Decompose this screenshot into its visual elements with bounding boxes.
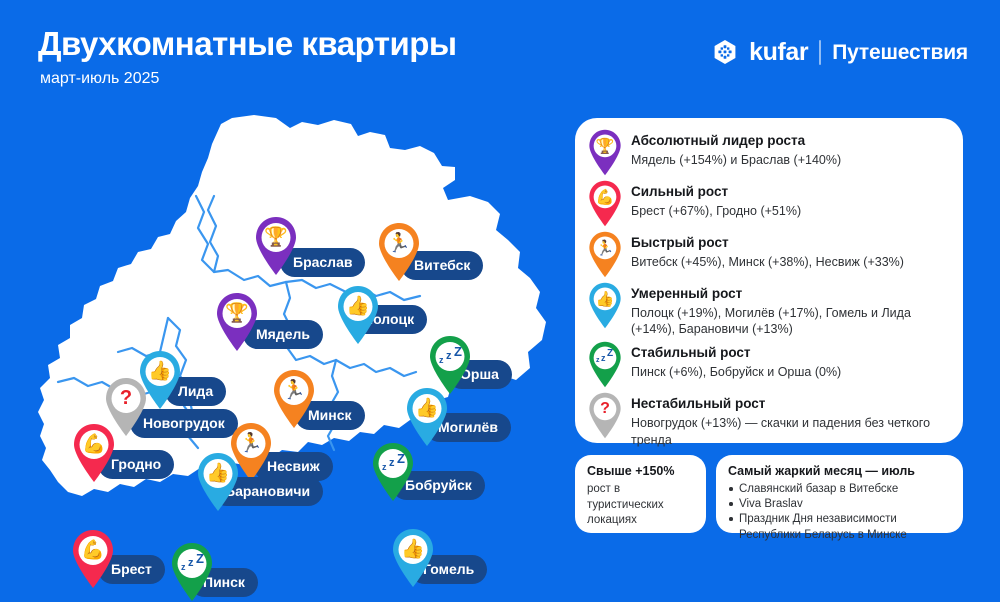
list-item: Viva Braslav xyxy=(728,497,952,512)
hottest-card-title: Самый жаркий месяц — июль xyxy=(728,464,952,479)
legend-desc: Полоцк (+19%), Могилёв (+17%), Гомель и … xyxy=(631,305,953,338)
legend-title: Стабильный рост xyxy=(631,345,841,362)
growth-highlight-card: Свыше +150% рост в туристических локация… xyxy=(575,455,706,533)
runner-icon: 🏃 xyxy=(587,235,623,261)
legend-desc: Пинск (+6%), Бобруйск и Орша (0%) xyxy=(631,364,841,380)
thumbsup-icon: 👍 xyxy=(404,392,450,425)
map-pin-мядель[interactable]: 🏆 xyxy=(214,292,260,352)
trophy-icon: 🏆 xyxy=(253,221,299,254)
legend-text: Абсолютный лидер ростаМядель (+154%) и Б… xyxy=(631,128,841,168)
growth-card-title: Свыше +150% xyxy=(587,464,695,479)
map-pin-минск[interactable]: 🏃 xyxy=(271,369,317,429)
brand-section-name: Путешествия xyxy=(832,42,968,63)
sleep-icon: zzZ xyxy=(427,340,473,373)
trophy-icon: 🏆 xyxy=(587,133,623,159)
legend-desc: Витебск (+45%), Минск (+38%), Несвиж (+3… xyxy=(631,254,904,270)
runner-icon: 🏃 xyxy=(376,227,422,260)
list-item: Славянский базар в Витебске xyxy=(728,482,952,497)
trophy-icon: 🏆 xyxy=(214,297,260,330)
brand-name: kufar xyxy=(749,40,808,65)
sleep-icon: zzZ xyxy=(587,345,623,371)
legend-text: Нестабильный ростНовогрудок (+13%) — ска… xyxy=(631,391,953,447)
legend-pin-gray: ? xyxy=(587,392,623,439)
page-subtitle: март-июль 2025 xyxy=(40,70,159,88)
legend-text: Быстрый ростВитебск (+45%), Минск (+38%)… xyxy=(631,230,904,270)
kufar-logo-icon xyxy=(712,39,738,65)
legend-item: 💪Сильный ростБрест (+67%), Гродно (+51%) xyxy=(587,179,953,227)
legend-panel: 🏆Абсолютный лидер ростаМядель (+154%) и … xyxy=(575,118,963,443)
legend-pin-orange: 🏃 xyxy=(587,231,623,278)
muscle-icon: 💪 xyxy=(71,428,117,461)
hottest-month-card: Самый жаркий месяц — июль Славянский баз… xyxy=(716,455,963,533)
legend-pin-green: zzZ xyxy=(587,341,623,388)
legend-desc: Мядель (+154%) и Браслав (+140%) xyxy=(631,152,841,168)
legend-item: 🏃Быстрый ростВитебск (+45%), Минск (+38%… xyxy=(587,230,953,278)
muscle-icon: 💪 xyxy=(587,184,623,210)
runner-icon: 🏃 xyxy=(271,374,317,407)
sleep-icon: zzZ xyxy=(169,547,215,580)
legend-text: Стабильный ростПинск (+6%), Бобруйск и О… xyxy=(631,340,841,380)
map-pin-бобруйск[interactable]: zzZ xyxy=(370,442,416,502)
legend-title: Быстрый рост xyxy=(631,235,904,252)
event-label-line2: Республики Беларусь в Минске xyxy=(739,528,952,543)
list-item: Праздник Дня независимости Республики Бе… xyxy=(728,512,952,542)
event-label: Праздник Дня независимости xyxy=(739,513,897,525)
belarus-map: Браслав🏆Витебск🏃Мядель🏆Полоцк👍ОршаzzZЛид… xyxy=(18,104,570,524)
legend-desc: Новогрудок (+13%) — скачки и падения без… xyxy=(631,415,953,448)
map-pin-барановичи[interactable]: 👍 xyxy=(195,452,241,512)
hottest-card-events: Славянский базар в Витебске Viva Braslav… xyxy=(728,482,952,543)
map-pin-орша[interactable]: zzZ xyxy=(427,335,473,395)
legend-text: Сильный ростБрест (+67%), Гродно (+51%) xyxy=(631,179,801,219)
legend-desc: Брест (+67%), Гродно (+51%) xyxy=(631,203,801,219)
map-pin-гродно[interactable]: 💪 xyxy=(71,423,117,483)
muscle-icon: 💪 xyxy=(70,534,116,567)
thumbsup-icon: 👍 xyxy=(195,457,241,490)
legend-item: 🏆Абсолютный лидер ростаМядель (+154%) и … xyxy=(587,128,953,176)
map-pin-браслав[interactable]: 🏆 xyxy=(253,216,299,276)
legend-title: Сильный рост xyxy=(631,184,801,201)
legend-pin-purple: 🏆 xyxy=(587,129,623,176)
map-pin-могилёв[interactable]: 👍 xyxy=(404,387,450,447)
legend-title: Умеренный рост xyxy=(631,286,953,303)
brand-divider xyxy=(819,40,821,65)
brand-lockup: kufar Путешествия xyxy=(712,36,968,68)
legend-pin-lightblue: 👍 xyxy=(587,282,623,329)
page-title: Двухкомнатные квартиры xyxy=(38,25,457,63)
thumbsup-icon: 👍 xyxy=(335,290,381,323)
legend-pin-red: 💪 xyxy=(587,180,623,227)
growth-card-body: рост в туристических локациях xyxy=(587,482,695,529)
map-pin-гомель[interactable]: 👍 xyxy=(390,528,436,588)
question-icon: ? xyxy=(587,396,623,422)
legend-item: ?Нестабильный ростНовогрудок (+13%) — ск… xyxy=(587,391,953,447)
map-pin-брест[interactable]: 💪 xyxy=(70,529,116,589)
question-icon: ? xyxy=(103,382,149,415)
legend-item: 👍Умеренный ростПолоцк (+19%), Могилёв (+… xyxy=(587,281,953,337)
sleep-icon: zzZ xyxy=(370,447,416,480)
map-pin-пинск[interactable]: zzZ xyxy=(169,542,215,602)
legend-title: Нестабильный рост xyxy=(631,396,953,413)
legend-title: Абсолютный лидер роста xyxy=(631,133,841,150)
event-label: Славянский базар в Витебске xyxy=(739,483,898,495)
legend-list: 🏆Абсолютный лидер ростаМядель (+154%) и … xyxy=(587,128,953,451)
map-pin-витебск[interactable]: 🏃 xyxy=(376,222,422,282)
infographic-root: Двухкомнатные квартиры март-июль 2025 ku… xyxy=(0,0,1000,563)
legend-item: zzZСтабильный ростПинск (+6%), Бобруйск … xyxy=(587,340,953,388)
thumbsup-icon: 👍 xyxy=(587,286,623,312)
event-label: Viva Braslav xyxy=(739,498,803,510)
thumbsup-icon: 👍 xyxy=(390,533,436,566)
map-pin-полоцк[interactable]: 👍 xyxy=(335,285,381,345)
legend-text: Умеренный ростПолоцк (+19%), Могилёв (+1… xyxy=(631,281,953,337)
